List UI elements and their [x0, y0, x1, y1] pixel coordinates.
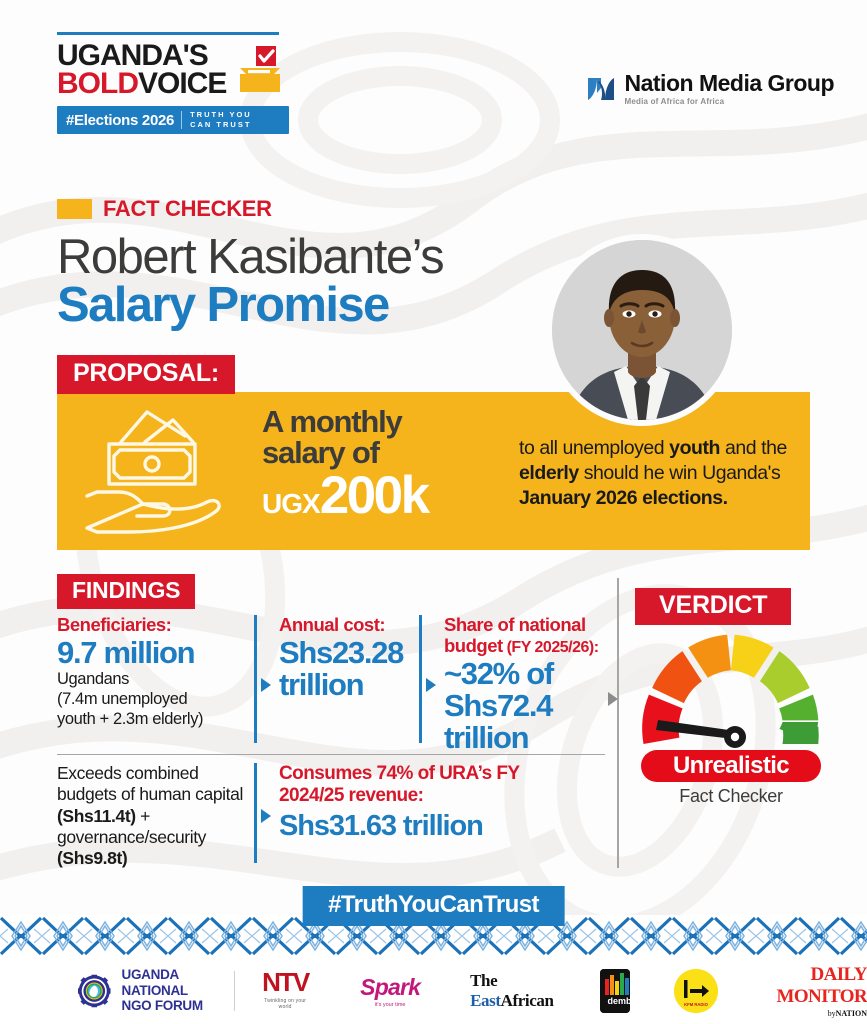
- svg-text:KFM RADIO: KFM RADIO: [684, 1002, 708, 1007]
- spark-tagline: it's your time: [360, 1002, 420, 1008]
- chevron-right-icon: [426, 678, 436, 692]
- dm-nation: NATION: [836, 1009, 867, 1018]
- nmg-mark-icon: [586, 74, 616, 104]
- salary-line1: A monthly: [262, 406, 492, 437]
- verdict-divider: [617, 578, 619, 868]
- findings-divider-2: [419, 615, 422, 754]
- ntv-logo: NTV Twinkling on your world: [262, 971, 308, 1009]
- logo-top-rule: [57, 32, 279, 35]
- finding-head-note: (FY 2025/26):: [503, 639, 599, 656]
- salary-amount-block: A monthly salary of UGX 200k: [262, 406, 492, 518]
- findings-row-2: Exceeds combined budgets of human capita…: [57, 763, 605, 870]
- chevron-right-icon: [261, 809, 271, 823]
- elections-tagline-bar: #Elections 2026 TRUTH YOU CAN TRUST: [57, 106, 289, 134]
- avatar-photo: [552, 240, 732, 420]
- tea-east: East: [470, 991, 501, 1010]
- findings-row-1: Beneficiaries: 9.7 million Ugandans (7.4…: [57, 615, 605, 754]
- spark-wordmark: Spark: [360, 974, 420, 1001]
- finding-value: Shs31.63 trillion: [279, 810, 579, 843]
- finding-annual-cost: Annual cost: Shs23.28 trillion: [279, 615, 419, 701]
- fact-checker-text: FACT CHECKER: [103, 196, 272, 222]
- findings-divider-1: [254, 615, 257, 754]
- nmg-subtitle: Media of Africa for Africa: [625, 98, 835, 106]
- chevron-right-icon: [261, 678, 271, 692]
- proposal-description: to all unemployed youth and the elderly …: [519, 436, 801, 511]
- ngo-seal-icon: [78, 967, 111, 1015]
- ntv-wordmark: NTV: [262, 971, 308, 994]
- elections-label: #Elections 2026: [57, 106, 181, 134]
- gauge-seg-1: [652, 651, 702, 703]
- fact-checker-label: FACT CHECKER: [57, 196, 272, 222]
- finding-beneficiaries: Beneficiaries: 9.7 million Ugandans (7.4…: [57, 615, 254, 729]
- verdict-caption: Fact Checker: [641, 786, 821, 807]
- finding-head: Annual cost:: [279, 615, 409, 636]
- spark-tv-logo: Spark it's your time: [360, 974, 420, 1008]
- yellow-swatch-icon: [57, 199, 92, 219]
- proposal-badge: PROPOSAL:: [57, 355, 235, 394]
- logo-line1: UGANDA'S: [57, 42, 226, 70]
- money-in-hand-icon: [85, 404, 255, 540]
- nation-media-group-logo: Nation Media Group Media of Africa for A…: [586, 72, 835, 106]
- salary-currency: UGX: [262, 490, 320, 518]
- headline-line1: Robert Kasibante’s: [57, 232, 443, 282]
- gauge-seg-4: [760, 651, 810, 703]
- trust-line2: CAN TRUST: [190, 120, 252, 130]
- findings-badge: FINDINGS: [57, 574, 195, 609]
- avatar: [552, 240, 732, 420]
- gauge-seg-0: [642, 695, 682, 744]
- dm-by: by: [828, 1009, 836, 1018]
- finding-text: Exceeds combined budgets of human capita…: [57, 763, 244, 870]
- finding-subtext: Ugandans (7.4m unemployed youth + 2.3m e…: [57, 670, 242, 729]
- hashtag-banner: #TruthYouCanTrust: [302, 886, 565, 926]
- verdict-gauge-chart: [638, 632, 828, 750]
- trust-line1: TRUTH YOU: [190, 110, 252, 120]
- the-east-african-logo: The EastAfrican: [470, 971, 553, 1011]
- svg-text:dembe: dembe: [607, 996, 630, 1006]
- findings-divider-3: [254, 763, 257, 870]
- finding-head: Beneficiaries:: [57, 615, 242, 636]
- finding-value: ~32% of Shs72.4 trillion: [444, 658, 604, 755]
- header: UGANDA'S BOLDVOICE #Elections: [0, 0, 867, 170]
- salary-line2: salary of: [262, 437, 492, 468]
- ngo-line1: UGANDA NATIONAL: [122, 967, 208, 998]
- status-badge: Unrealistic: [641, 750, 821, 782]
- finding-exceeds-budgets: Exceeds combined budgets of human capita…: [57, 763, 254, 870]
- page-title: Robert Kasibante’s Salary Promise: [57, 232, 443, 331]
- ballot-box-icon: [234, 44, 286, 96]
- findings-horizontal-rule: [57, 754, 605, 755]
- finding-head: Consumes 74% of URA’s FY 2024/25 revenue…: [279, 763, 579, 807]
- infographic-page: UGANDA'S BOLDVOICE #Elections: [0, 0, 867, 1024]
- finding-budget-share: Share of national budget (FY 2025/26): ~…: [444, 615, 604, 754]
- nmg-title: Nation Media Group: [625, 72, 835, 95]
- footer-partner-logos: UGANDA NATIONAL NGO FORUM NTV Twinkling …: [0, 957, 867, 1024]
- chevron-right-icon: [608, 692, 618, 706]
- daily-monitor-wordmark: DAILY MONITOR: [762, 964, 867, 1008]
- ntv-tagline: Twinkling on your world: [262, 998, 308, 1010]
- finding-value: 9.7 million: [57, 637, 242, 669]
- dembe-fm-logo: dembe: [600, 969, 631, 1013]
- tea-african: African: [501, 991, 554, 1010]
- daily-monitor-logo: DAILY MONITOR byNATION: [762, 964, 867, 1018]
- finding-ura-revenue: Consumes 74% of URA’s FY 2024/25 revenue…: [279, 763, 579, 843]
- uganda-national-ngo-forum-logo: UGANDA NATIONAL NGO FORUM: [78, 967, 207, 1015]
- kfm-logo: KFM RADIO: [674, 969, 718, 1013]
- ngo-line2: NGO FORUM: [122, 998, 208, 1014]
- finding-value: Shs23.28 trillion: [279, 637, 409, 701]
- tea-the: The: [470, 971, 497, 990]
- headline-line2: Salary Promise: [57, 280, 443, 330]
- logo-voice-word: VOICE: [138, 67, 226, 100]
- salary-value: 200k: [320, 473, 428, 518]
- ugandas-bold-voice-logo: UGANDA'S BOLDVOICE #Elections: [57, 32, 297, 134]
- footer-divider: [234, 971, 235, 1011]
- verdict-badge: VERDICT: [635, 588, 791, 625]
- logo-bold-word: BOLD: [57, 67, 138, 100]
